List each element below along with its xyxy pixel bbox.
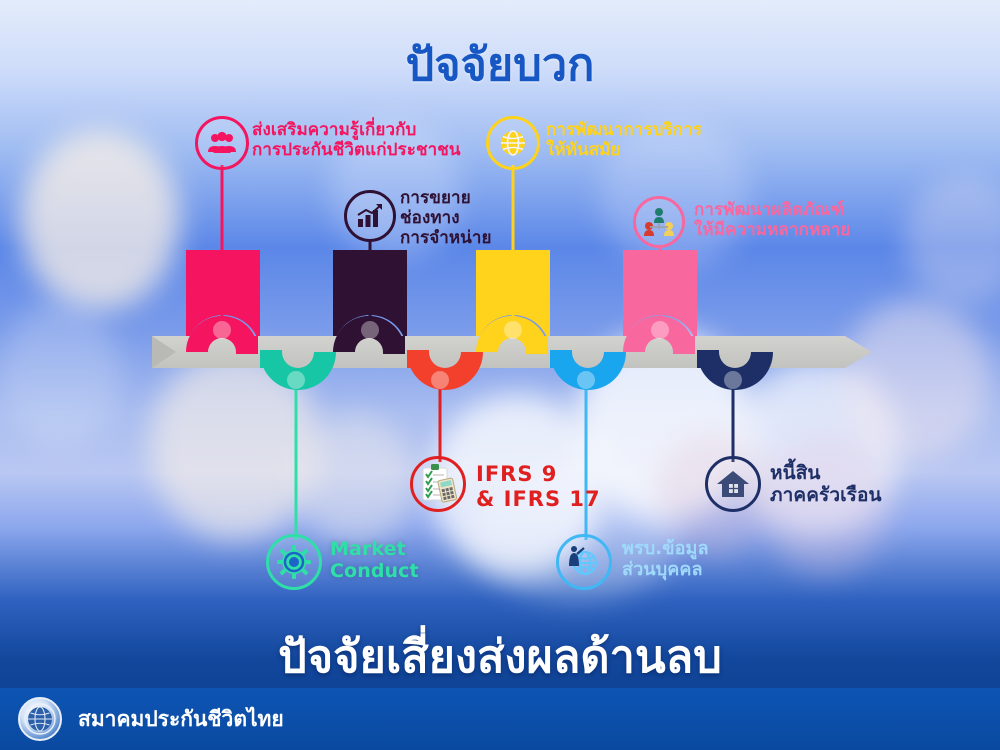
association-globe-logo <box>18 697 62 741</box>
people-diversity-icon <box>643 207 675 237</box>
timeline-ribbon <box>0 0 1000 750</box>
expand-distribution-ring <box>344 190 396 242</box>
footer-bar: สมาคมประกันชีวิตไทย <box>0 688 1000 750</box>
infographic-canvas: ปัจจัยบวก ปัจจัยเสี่ยงส่งผลด้านลบ <box>0 0 1000 750</box>
clipboard-calculator-icon <box>418 463 458 505</box>
gear-icon <box>277 545 311 579</box>
ifrs-ring <box>410 456 466 512</box>
modernize-service-label: การพัฒนาการบริการ ให้ทันสมัย <box>546 120 702 160</box>
diversify-products-label: การพัฒนาผลิตภัณฑ์ ให้มีความหลากหลาย <box>694 200 850 240</box>
personal-data-ring <box>556 534 612 590</box>
expand-distribution-label: การขยาย ช่องทาง การจำหน่าย <box>400 188 492 248</box>
promote-knowledge-label: ส่งเสริมความรู้เกี่ยวกับ การประกันชีวิตแ… <box>252 120 461 160</box>
household-debt-label: หนี้สิน ภาคครัวเรือน <box>770 462 882 507</box>
house-icon <box>716 468 750 500</box>
ifrs-label: IFRS 9 & IFRS 17 <box>476 462 601 512</box>
people-group-icon <box>207 131 237 155</box>
diversify-products-ring <box>633 196 685 248</box>
modernize-service-ring <box>486 116 540 170</box>
bar-chart-growth-icon <box>355 203 385 229</box>
logo-globe-icon <box>23 702 57 736</box>
household-debt-ring <box>705 456 761 512</box>
globe-person-icon <box>564 542 604 582</box>
market-conduct-ring <box>266 534 322 590</box>
market-conduct-label: Market Conduct <box>330 538 419 583</box>
promote-knowledge-ring <box>195 116 249 170</box>
personal-data-label: พรบ.ข้อมูล ส่วนบุคคล <box>622 538 709 580</box>
organization-name: สมาคมประกันชีวิตไทย <box>78 703 284 736</box>
globe-icon <box>497 127 529 159</box>
